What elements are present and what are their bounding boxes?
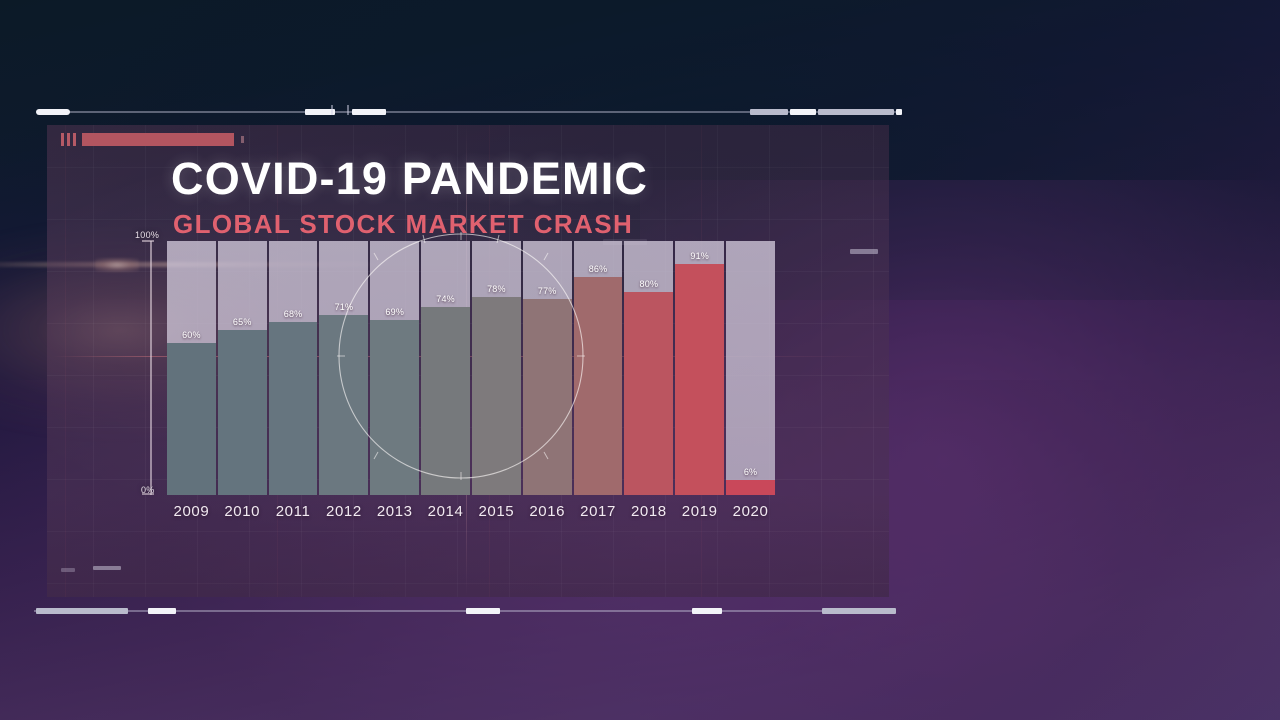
y-axis-label-min: 0% [141,485,155,495]
bar-value-label: 71% [319,302,368,312]
bar-column[interactable]: 69% [370,241,419,495]
hud-top-segment-7 [896,109,902,115]
bar-value-label: 65% [218,317,267,327]
hud-mark-mid [603,239,647,245]
y-axis-cap-top [142,240,154,242]
x-axis-tick-label: 2012 [319,503,368,520]
bar-value-label: 6% [726,467,775,477]
bar-column[interactable]: 68% [269,241,318,495]
bar-fill [574,277,623,495]
bar-fill [269,322,318,495]
bar-value-label: 78% [472,284,521,294]
progress-tick-icon [61,133,64,146]
x-axis-tick-label: 2016 [523,503,572,520]
hud-top-tick-2 [347,105,349,115]
hud-top-tick-1 [331,105,333,115]
x-axis-tick-label: 2019 [675,503,724,520]
bar-track [726,241,775,495]
bar-fill [167,343,216,495]
hud-top-segment-1 [36,109,70,115]
bar-value-label: 68% [269,309,318,319]
bar-series: 60%65%68%71%69%74%78%77%86%80%91%6% [167,241,777,495]
progress-end-cap [241,136,244,143]
x-axis-tick-label: 2018 [624,503,673,520]
bar-value-label: 60% [167,330,216,340]
hud-bottom-segment-2 [148,608,176,614]
bar-fill [675,264,724,495]
hud-top-segment-4 [750,109,788,115]
bar-fill [370,320,419,495]
x-axis-tick-label: 2009 [167,503,216,520]
bar-fill [523,299,572,495]
bar-column[interactable]: 77% [523,241,572,495]
bar-column[interactable]: 60% [167,241,216,495]
x-axis-tick-label: 2013 [370,503,419,520]
y-axis-line [150,241,152,495]
hud-top-segment-6 [818,109,894,115]
bar-fill [319,315,368,495]
page-subtitle: GLOBAL STOCK MARKET CRASH [173,209,633,240]
bar-fill [421,307,470,495]
hud-top-segment-3 [352,109,386,115]
hud-progress-bar [61,133,244,146]
progress-tick-icon [73,133,76,146]
bar-value-label: 69% [370,307,419,317]
bar-column[interactable]: 80% [624,241,673,495]
bar-column[interactable]: 78% [472,241,521,495]
bar-fill [624,292,673,495]
y-axis-label-max: 100% [135,230,159,240]
bar-fill [472,297,521,495]
bar-column[interactable]: 6% [726,241,775,495]
x-axis-tick-label: 2020 [726,503,775,520]
x-axis-tick-label: 2014 [421,503,470,520]
x-axis-tick-label: 2017 [574,503,623,520]
bar-value-label: 86% [574,264,623,274]
bar-value-label: 77% [523,286,572,296]
x-axis-tick-label: 2015 [472,503,521,520]
progress-fill [82,133,234,146]
bar-column[interactable]: 65% [218,241,267,495]
hud-bottom-segment-5 [822,608,896,614]
bar-fill [218,330,267,495]
x-axis-tick-label: 2011 [269,503,318,520]
chart-panel: COVID-19 PANDEMIC GLOBAL STOCK MARKET CR… [47,125,889,597]
bar-column[interactable]: 91% [675,241,724,495]
hud-mark-right [850,249,878,254]
bar-column[interactable]: 71% [319,241,368,495]
x-axis-tick-label: 2010 [218,503,267,520]
bar-fill [726,480,775,495]
hud-mark-bottom-left-2 [93,566,121,570]
page-title: COVID-19 PANDEMIC [171,153,648,205]
bar-column[interactable]: 74% [421,241,470,495]
bar-column[interactable]: 86% [574,241,623,495]
hud-bottom-segment-4 [692,608,722,614]
hud-bottom-segment-3 [466,608,500,614]
screen-root: COVID-19 PANDEMIC GLOBAL STOCK MARKET CR… [0,0,1280,720]
x-axis-labels: 2009201020112012201320142015201620172018… [167,503,777,520]
bar-value-label: 80% [624,279,673,289]
bar-value-label: 91% [675,251,724,261]
bar-value-label: 74% [421,294,470,304]
progress-tick-icon [67,133,70,146]
hud-mark-bottom-left-1 [61,568,75,572]
hud-top-segment-5 [790,109,816,115]
hud-bottom-segment-1 [36,608,128,614]
